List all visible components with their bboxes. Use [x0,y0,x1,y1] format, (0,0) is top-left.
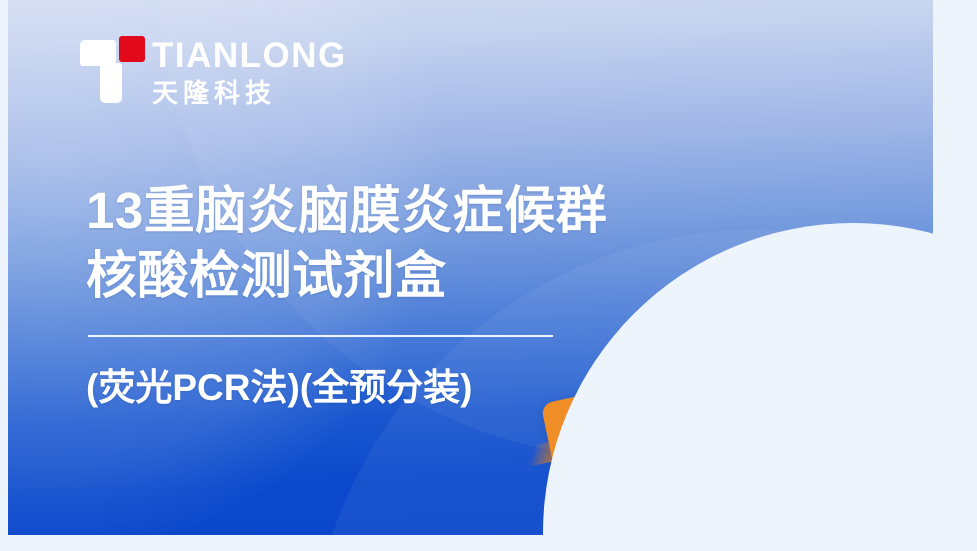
brand-name-en: TIANLONG [152,38,347,73]
headline-line-2: 核酸检测试剂盒 [86,243,607,308]
brand-logo-text: TIANLONG 天隆科技 [152,36,347,110]
brand-logo: TIANLONG 天隆科技 [80,36,347,110]
logo-red-block [119,36,145,62]
right-edge-margin [933,0,977,543]
tianlong-t-logo-icon [80,36,138,104]
product-banner: TIANLONG 天隆科技 13重脑炎脑膜炎症候群 核酸检测试剂盒 (荧光PCR… [0,0,977,551]
banner-panel: TIANLONG 天隆科技 13重脑炎脑膜炎症候群 核酸检测试剂盒 (荧光PCR… [8,0,977,543]
subtitle: (荧光PCR法)(全预分装) [86,357,472,411]
headline-divider [88,335,553,337]
headline-line-1: 13重脑炎脑膜炎症候群 [86,178,607,243]
headline: 13重脑炎脑膜炎症候群 核酸检测试剂盒 [86,178,607,309]
logo-white-stem-block [100,63,122,103]
bottom-edge-margin [8,535,977,543]
brand-name-cn: 天隆科技 [152,77,347,110]
